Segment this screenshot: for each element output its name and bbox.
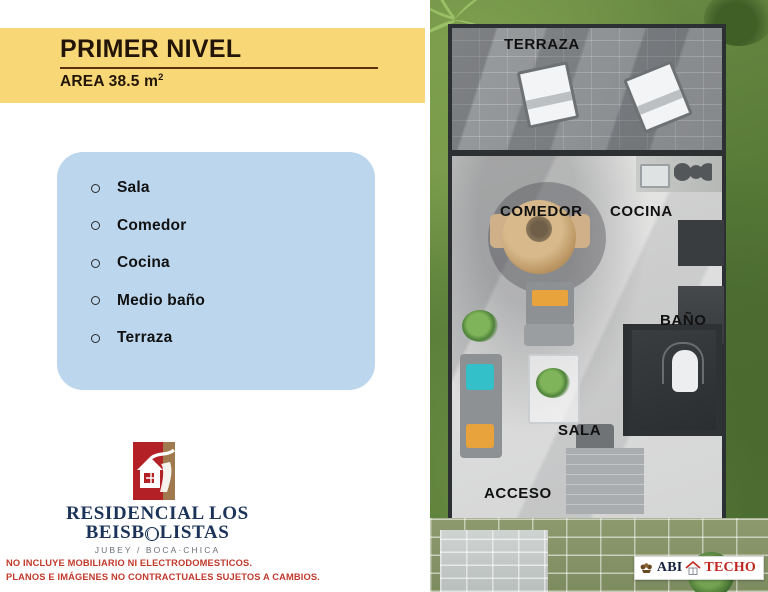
floorplan-render: TERRAZA COMEDOR COCINA BAÑO SALA ACCESO …: [430, 0, 768, 592]
room-label-cocina: COCINA: [610, 203, 673, 220]
logo-line-2-part2: LISTAS: [160, 523, 230, 542]
title-band: PRIMER NIVEL AREA 38.5 m2: [0, 28, 425, 103]
room-list-label: Terraza: [117, 329, 172, 347]
abitecho-watermark: ABI TECHO: [634, 556, 764, 580]
cushion-teal: [466, 364, 494, 390]
area-superscript: 2: [158, 72, 163, 83]
room-list-label: Medio baño: [117, 292, 205, 310]
list-item: Comedor: [91, 214, 375, 238]
paver-path: [440, 530, 548, 592]
sofa: [460, 354, 502, 458]
bullet-icon: [91, 221, 100, 230]
company-logo: RESIDENCIAL LOS BEISB LISTAS JUBEY / BOC…: [45, 440, 270, 555]
bullet-icon: [91, 259, 100, 268]
armchair: [526, 282, 574, 326]
abi-text: ABI: [657, 560, 683, 576]
room-label-terraza: TERRAZA: [504, 36, 580, 53]
bullet-icon: [91, 334, 100, 343]
stove-burners-icon: [674, 163, 712, 181]
room-label-bano: BAÑO: [660, 312, 707, 329]
roof-icon: [685, 561, 701, 575]
baseball-icon: [145, 527, 159, 541]
side-bench: [524, 324, 574, 346]
disclaimer-line-1: NO INCLUYE MOBILIARIO NI ELECTRODOMESTIC…: [6, 556, 416, 570]
refrigerator: [678, 220, 724, 266]
list-item: Sala: [91, 176, 375, 200]
plant-icon: [536, 368, 570, 398]
title-underline: [60, 67, 378, 69]
logo-line-1: RESIDENCIAL LOS: [45, 504, 270, 523]
room-list-box: Sala Comedor Cocina Medio baño Terraza: [57, 152, 375, 390]
room-list-label: Comedor: [117, 217, 186, 235]
area-label: AREA 38.5 m2: [60, 72, 390, 91]
page-title: PRIMER NIVEL: [60, 36, 390, 65]
bullet-icon: [91, 296, 100, 305]
room-list-label: Cocina: [117, 254, 170, 272]
list-item: Cocina: [91, 251, 375, 275]
disclaimer-line-2: PLANOS E IMÁGENES NO CONTRACTUALES SUJET…: [6, 570, 416, 584]
techo-text: TECHO: [704, 560, 756, 576]
sink-icon: [640, 164, 670, 188]
area-value: AREA 38.5 m: [60, 73, 158, 90]
room-label-sala: SALA: [558, 422, 601, 439]
logo-line-2: BEISB LISTAS: [45, 523, 270, 542]
logo-subtitle: JUBEY / BOCA·CHICA: [45, 545, 270, 555]
list-item: Medio baño: [91, 289, 375, 313]
room-list: Sala Comedor Cocina Medio baño Terraza: [57, 152, 375, 350]
wall-bath-left: [623, 324, 630, 436]
list-item: Terraza: [91, 326, 375, 350]
room-label-comedor: COMEDOR: [500, 203, 583, 220]
entry-steps: [566, 448, 644, 514]
cushion-orange: [466, 424, 494, 448]
bullet-icon: [91, 184, 100, 193]
ornament-icon: [640, 563, 653, 574]
room-list-label: Sala: [117, 179, 150, 197]
title-band-content: PRIMER NIVEL AREA 38.5 m2: [60, 36, 390, 91]
left-info-panel: PRIMER NIVEL AREA 38.5 m2 Sala Comedor C…: [0, 0, 430, 592]
floorplan-marketing-sheet: PRIMER NIVEL AREA 38.5 m2 Sala Comedor C…: [0, 0, 768, 592]
room-label-acceso: ACCESO: [484, 485, 552, 502]
toilet-icon: [672, 350, 698, 392]
disclaimer: NO INCLUYE MOBILIARIO NI ELECTRODOMESTIC…: [6, 556, 416, 585]
plant-icon: [462, 310, 498, 342]
house-baseball-logo-icon: [127, 440, 189, 502]
logo-line-2-part1: BEISB: [86, 523, 145, 542]
